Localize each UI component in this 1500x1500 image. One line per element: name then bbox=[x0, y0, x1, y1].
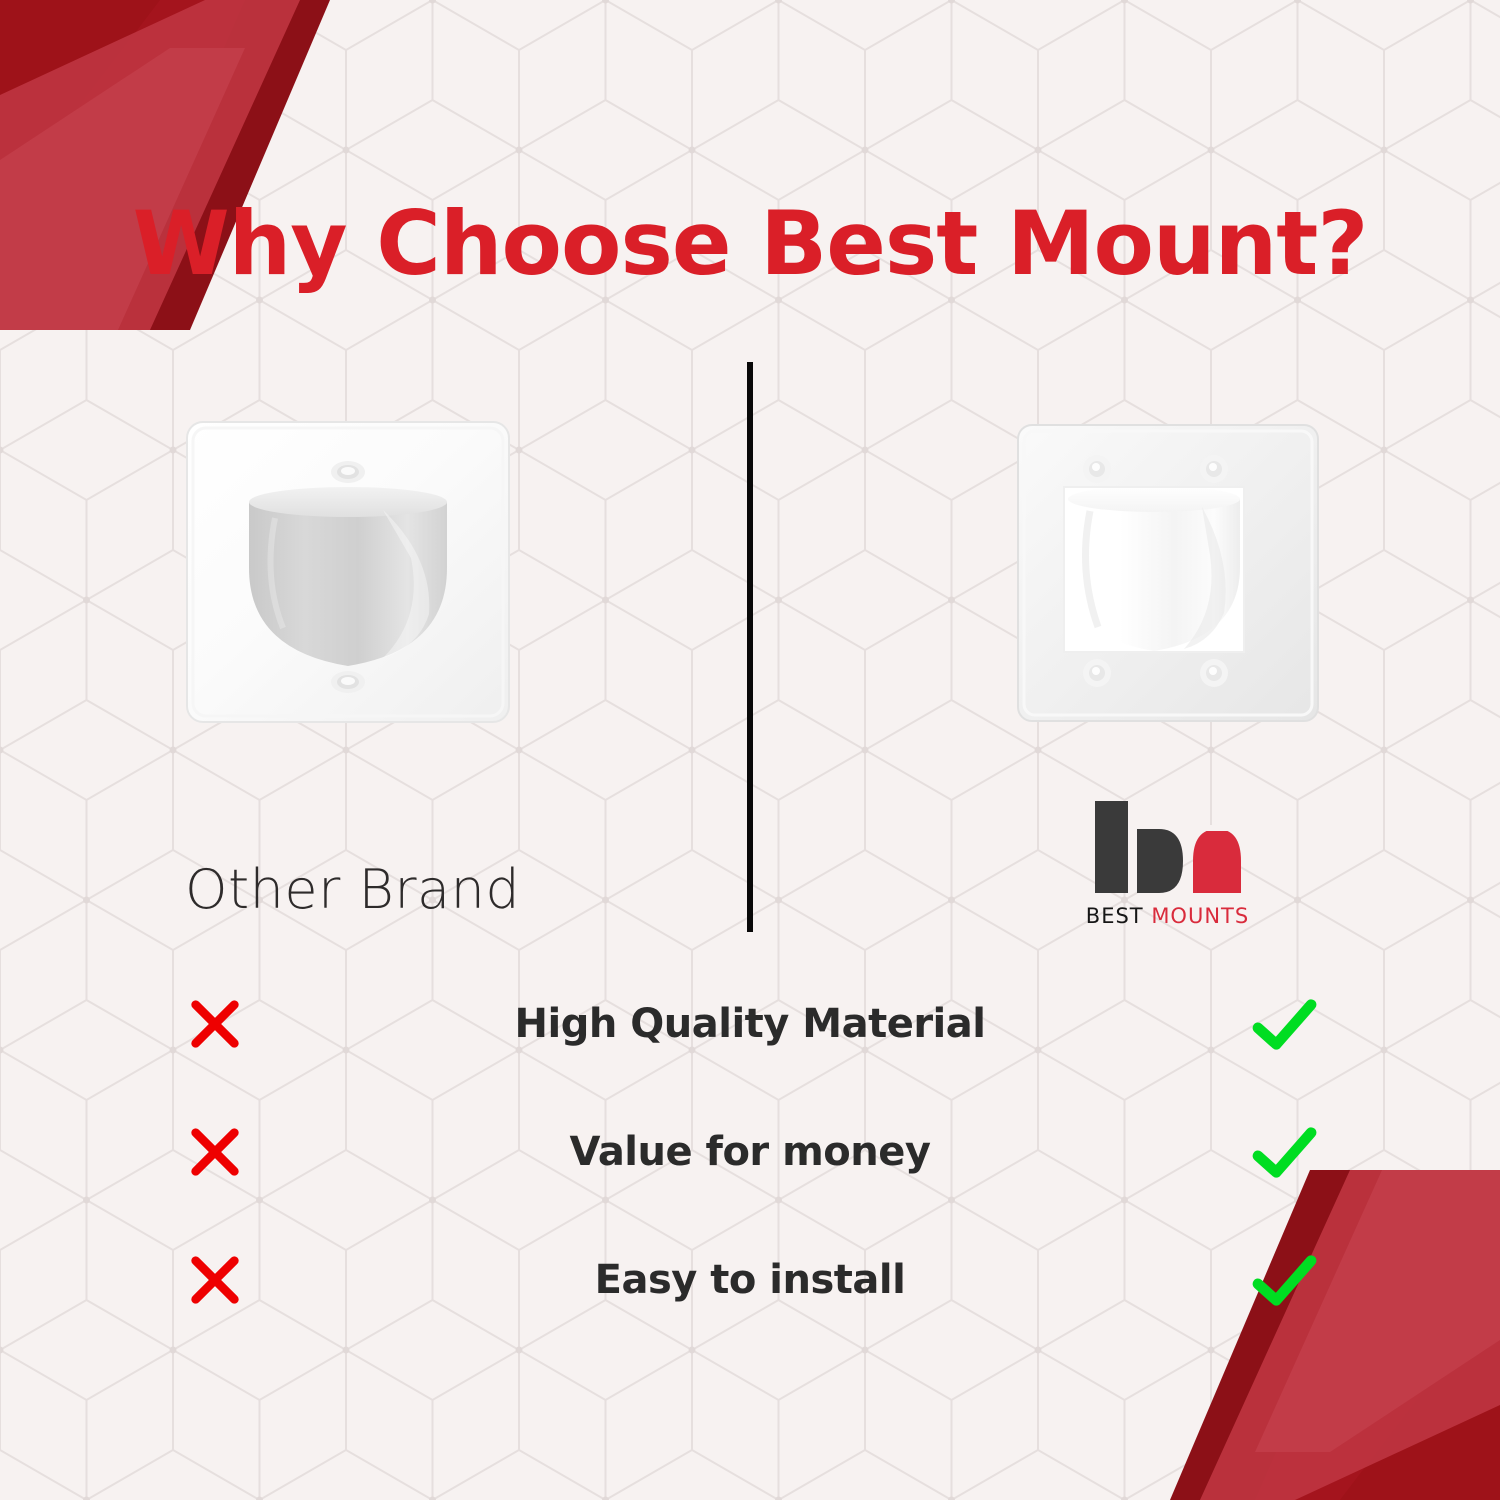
best-mounts-mark-cell bbox=[1070, 1251, 1500, 1309]
cross-icon bbox=[186, 995, 244, 1053]
page-title: Why Choose Best Mount? bbox=[0, 192, 1500, 295]
cross-icon bbox=[186, 1123, 244, 1181]
table-row: High Quality Material bbox=[0, 960, 1500, 1088]
other-brand-wall-plate-image bbox=[183, 418, 513, 726]
table-row: Value for money bbox=[0, 1088, 1500, 1216]
feature-label: High Quality Material bbox=[430, 1001, 1070, 1047]
feature-label: Value for money bbox=[430, 1129, 1070, 1175]
other-brand-mark-cell bbox=[0, 1123, 430, 1181]
feature-comparison-list: High Quality Material Value for money bbox=[0, 960, 1500, 1344]
best-mounts-logo-mark bbox=[1085, 795, 1250, 900]
best-mounts-mark-cell bbox=[1070, 995, 1500, 1053]
logo-text-mounts: MOUNTS bbox=[1151, 904, 1249, 928]
other-brand-mark-cell bbox=[0, 1251, 430, 1309]
check-icon bbox=[1250, 1251, 1320, 1309]
vertical-divider bbox=[747, 362, 753, 932]
other-brand-label: Other Brand bbox=[185, 858, 520, 921]
feature-label: Easy to install bbox=[430, 1257, 1070, 1303]
check-icon bbox=[1250, 995, 1320, 1053]
infographic-canvas: Why Choose Best Mount? bbox=[0, 0, 1500, 1500]
best-mounts-mark-cell bbox=[1070, 1123, 1500, 1181]
check-icon bbox=[1250, 1123, 1320, 1181]
logo-text-best: BEST bbox=[1086, 904, 1144, 928]
best-mounts-logo-text: BEST MOUNTS bbox=[1085, 904, 1250, 928]
other-brand-mark-cell bbox=[0, 995, 430, 1053]
cross-icon bbox=[186, 1251, 244, 1309]
best-mounts-logo: BEST MOUNTS bbox=[1085, 795, 1250, 940]
best-mounts-wall-plate-image bbox=[1012, 415, 1330, 733]
table-row: Easy to install bbox=[0, 1216, 1500, 1344]
